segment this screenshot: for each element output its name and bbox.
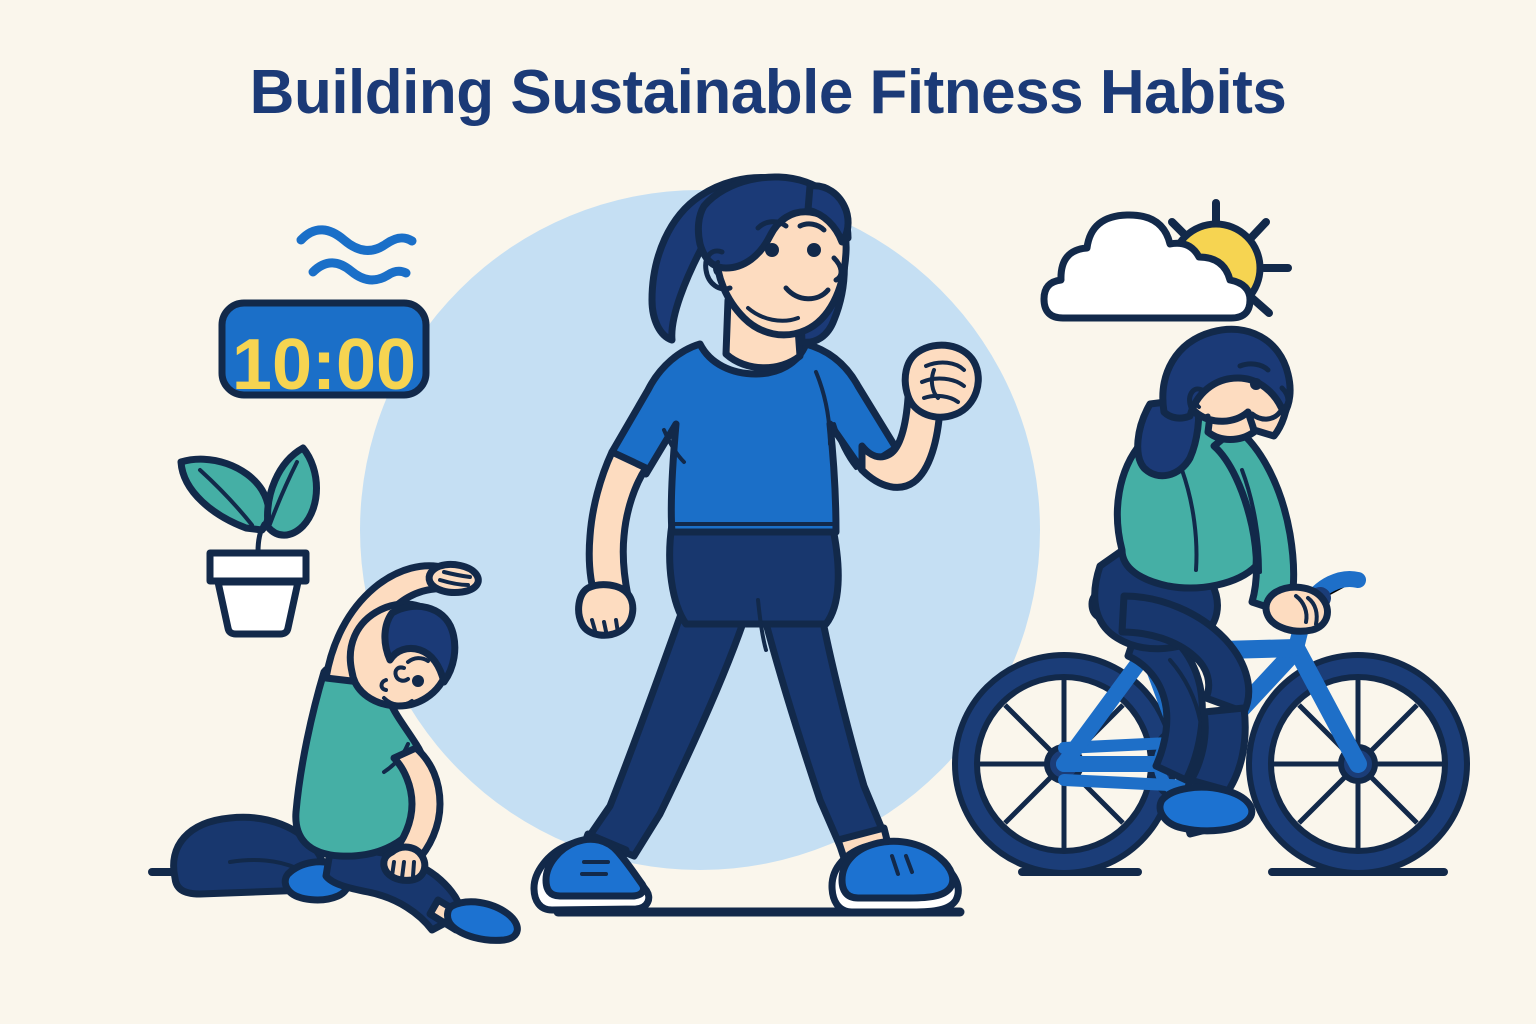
weather-icon — [1044, 203, 1288, 318]
illustration-canvas: Building Sustainable Fitness Habits .ol{… — [0, 0, 1536, 1024]
cyclist-shoe — [1160, 787, 1252, 831]
wave-line-top — [301, 230, 412, 251]
stretcher-support-finger-3 — [413, 862, 414, 876]
timer-widget: 10:00 — [222, 230, 426, 405]
stretcher-support-finger-2 — [402, 862, 404, 878]
walker-finger-back-3 — [616, 620, 618, 633]
plant-pot-rim — [210, 553, 306, 581]
cyclist-hand — [1266, 587, 1327, 631]
walker-eye-left — [765, 243, 779, 257]
walker-pants — [670, 524, 839, 624]
walker-eye-right — [807, 243, 821, 257]
cyclist-ear-inner — [1197, 397, 1199, 407]
stretcher-shoe-front — [448, 902, 518, 941]
plant-leaf-right — [268, 448, 317, 535]
stretcher-eye — [412, 675, 424, 687]
wave-line-bottom — [313, 263, 406, 280]
timer-display: 10:00 — [232, 325, 416, 405]
cyclist-eye — [1250, 378, 1262, 390]
stretcher-support-finger-1 — [392, 862, 394, 876]
bike-chain-bottom — [1064, 780, 1190, 786]
potted-plant — [181, 448, 317, 634]
plant-pot-body — [218, 582, 298, 634]
fitness-illustration: .ol{stroke:#12294A;stroke-width:7;stroke… — [0, 0, 1536, 1024]
walker-fist — [905, 345, 978, 417]
